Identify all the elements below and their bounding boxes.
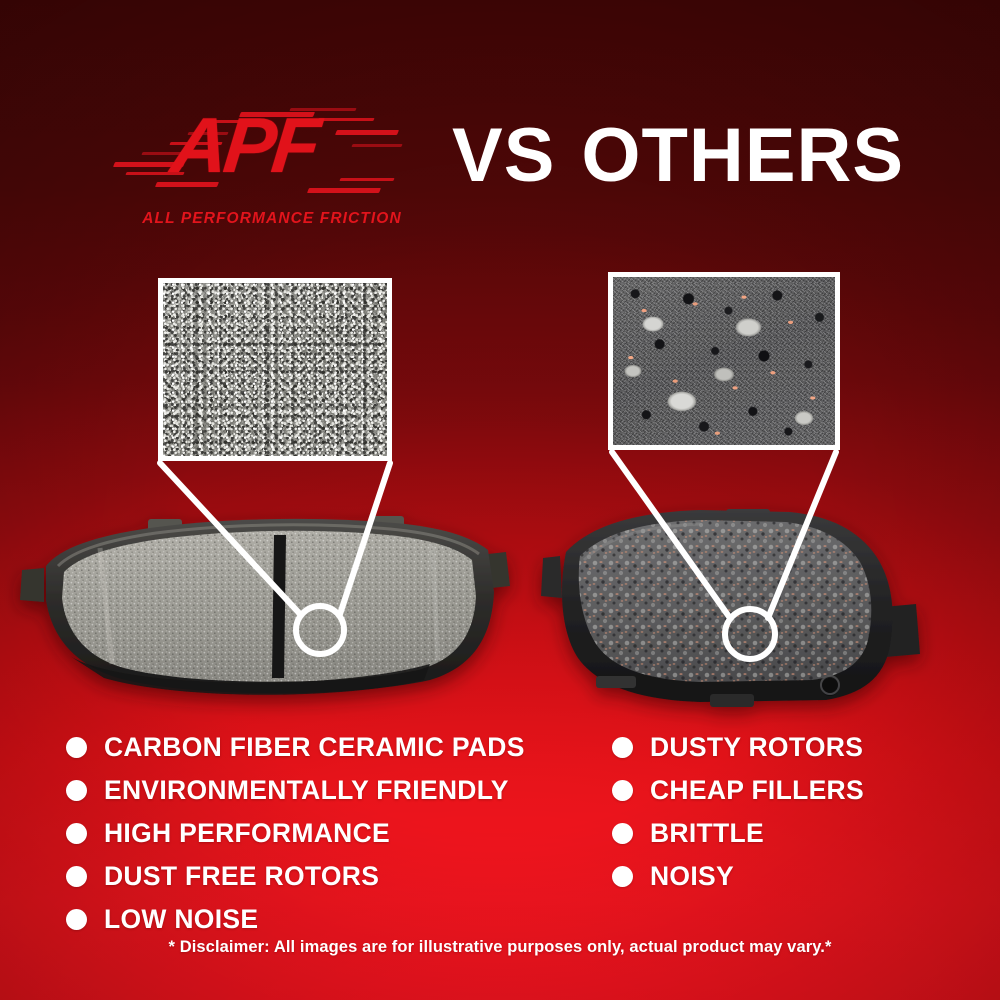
pad-friction-grain — [62, 531, 476, 682]
others-brake-pad — [541, 509, 920, 707]
others-feature-list: DUSTY ROTORS CHEAP FILLERS BRITTLE NOISY — [612, 726, 952, 898]
feature-label: CARBON FIBER CERAMIC PADS — [104, 732, 525, 763]
bullet-icon — [612, 866, 633, 887]
feature-label: ENVIRONMENTALLY FRIENDLY — [104, 775, 509, 806]
disclaimer-text: * Disclaimer: All images are for illustr… — [0, 938, 1000, 957]
pad-friction-grain — [579, 520, 871, 682]
bullet-icon — [66, 780, 87, 801]
list-item: ENVIRONMENTALLY FRIENDLY — [66, 769, 566, 812]
list-item: NOISY — [612, 855, 952, 898]
bullet-icon — [612, 737, 633, 758]
pad-center-slot — [272, 535, 286, 678]
list-item: DUST FREE ROTORS — [66, 855, 566, 898]
feature-label: HIGH PERFORMANCE — [104, 818, 390, 849]
list-item: DUSTY ROTORS — [612, 726, 952, 769]
bullet-icon — [66, 909, 87, 930]
list-item: LOW NOISE — [66, 898, 566, 941]
bullet-icon — [66, 866, 87, 887]
feature-label: BRITTLE — [650, 818, 764, 849]
feature-label: NOISY — [650, 861, 734, 892]
bullet-icon — [612, 823, 633, 844]
bullet-icon — [66, 823, 87, 844]
apf-feature-list: CARBON FIBER CERAMIC PADS ENVIRONMENTALL… — [66, 726, 566, 941]
pad-ear-icon — [20, 568, 44, 602]
pad-tab-icon — [596, 676, 636, 688]
bullet-icon — [66, 737, 87, 758]
bullet-icon — [612, 780, 633, 801]
promo-graphic: APF ALL PERFORMANCE FRICTION VSOTHERS — [0, 0, 1000, 1000]
list-item: CARBON FIBER CERAMIC PADS — [66, 726, 566, 769]
list-item: CHEAP FILLERS — [612, 769, 952, 812]
list-item: BRITTLE — [612, 812, 952, 855]
feature-label: DUST FREE ROTORS — [104, 861, 379, 892]
pad-ear-icon — [541, 556, 562, 598]
pad-tab-icon — [710, 694, 754, 707]
list-item: HIGH PERFORMANCE — [66, 812, 566, 855]
feature-label: DUSTY ROTORS — [650, 732, 863, 763]
apf-brake-pad — [20, 516, 510, 695]
feature-label: CHEAP FILLERS — [650, 775, 864, 806]
feature-label: LOW NOISE — [104, 904, 258, 935]
